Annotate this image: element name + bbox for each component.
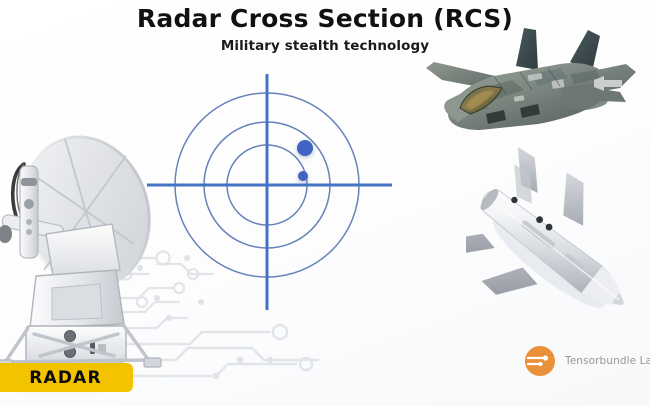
page-subtitle: Military stealth technology xyxy=(0,38,650,54)
watermark: Tensorbundle Lab xyxy=(522,342,650,380)
radar-scope-chart xyxy=(140,62,405,322)
crosshair-axes xyxy=(147,74,392,310)
tensorbundle-logo-icon xyxy=(522,343,558,379)
radar-badge-label: RADAR xyxy=(21,368,102,388)
air-to-air-missile xyxy=(466,145,642,355)
large-rcs-target xyxy=(297,140,313,156)
small-rcs-target xyxy=(298,171,308,181)
page-title: Radar Cross Section (RCS) xyxy=(0,4,650,33)
slide-canvas: Radar Cross Section (RCS) Military steal… xyxy=(0,0,650,406)
watermark-text: Tensorbundle Lab xyxy=(565,355,650,367)
radar-badge[interactable]: RADAR xyxy=(0,363,133,392)
